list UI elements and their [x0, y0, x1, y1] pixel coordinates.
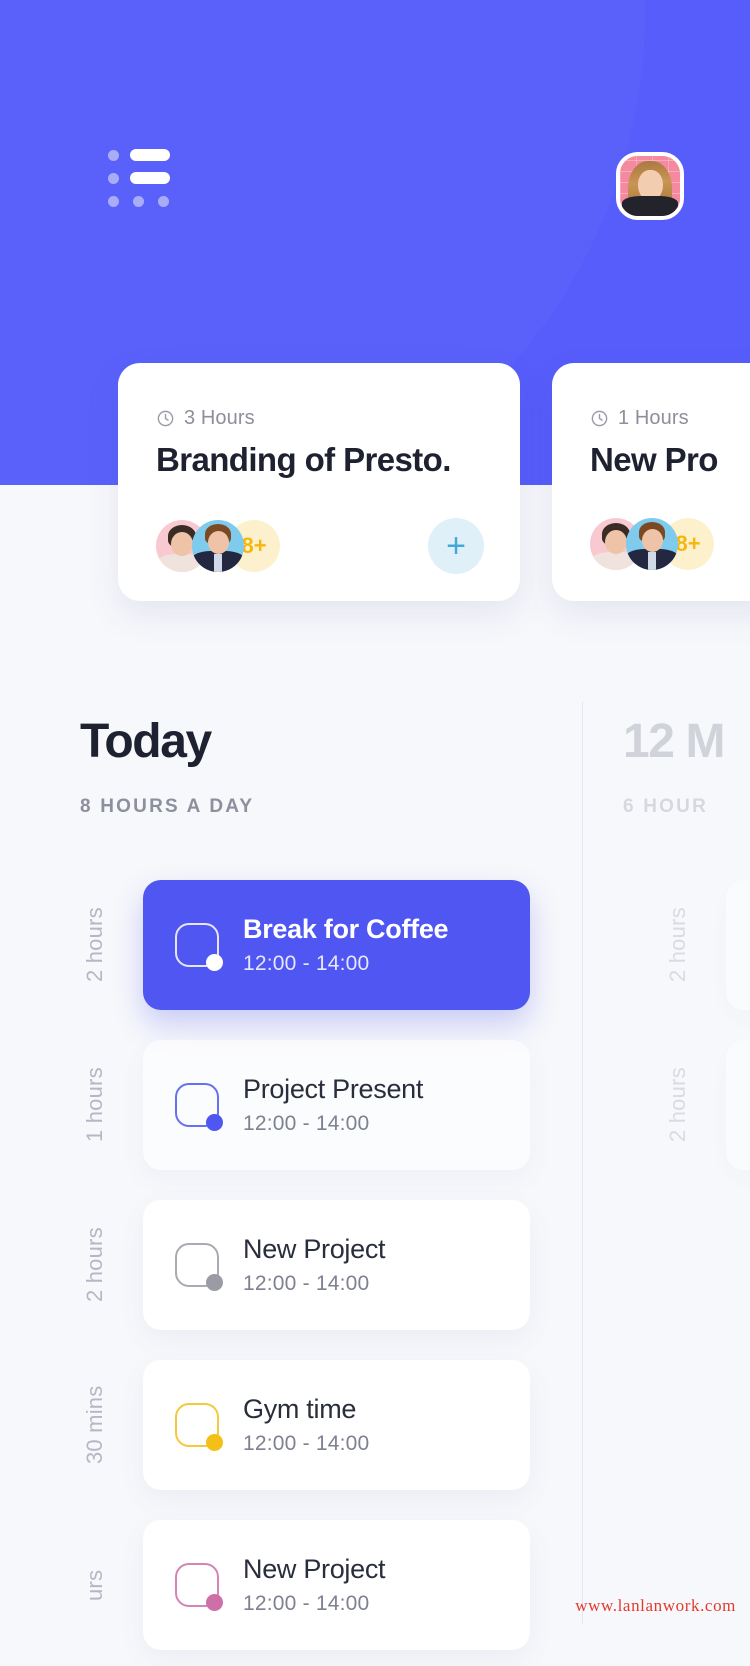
task-name: Project Present	[243, 1074, 423, 1105]
menu-dot	[108, 173, 119, 184]
member-avatar-stack[interactable]: 8+	[156, 520, 280, 572]
task-duration-label: 1 hours	[78, 1026, 112, 1184]
page-title: 12 M	[623, 714, 724, 769]
task-name: New Project	[243, 1234, 385, 1265]
task-checkbox[interactable]	[175, 923, 219, 967]
add-member-button[interactable]: +	[428, 518, 484, 574]
task-row: 2 hours New Project 12:00 - 14:00	[0, 1186, 582, 1344]
task-card[interactable]: Gym time 12:00 - 14:00	[143, 1360, 530, 1490]
page-subtitle: 8 HOURS A DAY	[80, 796, 254, 818]
task-duration-label: urs	[78, 1506, 112, 1664]
task-time: 12:00 - 14:00	[243, 952, 448, 976]
task-list: 2 hours 2 hours	[583, 866, 750, 1186]
member-avatar[interactable]	[626, 518, 678, 570]
member-avatar-stack[interactable]: 8+	[590, 518, 714, 570]
task-name: Break for Coffee	[243, 914, 448, 945]
project-duration: 1 Hours	[590, 407, 750, 430]
project-card[interactable]: 3 Hours Branding of Presto. 8+ +	[118, 363, 520, 601]
task-duration-label: 2 hours	[78, 866, 112, 1024]
task-card[interactable]: New Project 12:00 - 14:00	[143, 1520, 530, 1650]
task-card[interactable]	[726, 1040, 750, 1170]
menu-dot	[158, 196, 169, 207]
task-name: Gym time	[243, 1394, 369, 1425]
page-subtitle: 6 HOUR	[623, 796, 708, 818]
project-duration: 3 Hours	[156, 407, 484, 430]
schedule-panels: Today 8 HOURS A DAY 2 hours Break for Co…	[0, 606, 750, 1624]
project-card-footer: 8+ +	[156, 518, 484, 574]
task-row: 2 hours	[583, 866, 750, 1024]
project-duration-label: 1 Hours	[618, 407, 689, 430]
avatar-body	[622, 196, 678, 216]
menu-bar	[130, 149, 170, 161]
task-checkbox[interactable]	[175, 1083, 219, 1127]
clock-icon	[590, 409, 609, 428]
task-time: 12:00 - 14:00	[243, 1112, 423, 1136]
list-menu-icon[interactable]	[108, 148, 170, 204]
project-duration-label: 3 Hours	[184, 407, 255, 430]
user-avatar[interactable]	[616, 152, 684, 220]
project-title: Branding of Presto.	[156, 441, 484, 479]
task-time: 12:00 - 14:00	[243, 1272, 385, 1296]
project-cards-carousel[interactable]: 3 Hours Branding of Presto. 8+ + 1 Hours…	[0, 363, 750, 603]
watermark: www.lanlanwork.com	[575, 1596, 736, 1616]
menu-dot	[108, 196, 119, 207]
task-time: 12:00 - 14:00	[243, 1592, 385, 1616]
task-card[interactable]: New Project 12:00 - 14:00	[143, 1200, 530, 1330]
task-name: New Project	[243, 1554, 385, 1585]
task-checkbox[interactable]	[175, 1403, 219, 1447]
task-checkbox[interactable]	[175, 1243, 219, 1287]
member-avatar[interactable]	[192, 520, 244, 572]
page-title: Today	[80, 714, 211, 769]
task-list: 2 hours Break for Coffee 12:00 - 14:00 1…	[0, 866, 582, 1666]
task-card[interactable]: Break for Coffee 12:00 - 14:00	[143, 880, 530, 1010]
task-row: urs New Project 12:00 - 14:00	[0, 1506, 582, 1664]
menu-dot	[133, 196, 144, 207]
menu-bar	[130, 172, 170, 184]
clock-icon	[156, 409, 175, 428]
day-panel-today: Today 8 HOURS A DAY 2 hours Break for Co…	[0, 606, 582, 1624]
project-card-footer: 8+	[590, 518, 750, 570]
project-title: New Pro	[590, 441, 750, 479]
task-duration-label: 2 hours	[78, 1186, 112, 1344]
task-duration-label: 2 hours	[661, 866, 695, 1024]
task-card[interactable]	[726, 880, 750, 1010]
day-panel-next[interactable]: 12 M 6 HOUR 2 hours 2 hours	[583, 606, 750, 1624]
task-row: 2 hours Break for Coffee 12:00 - 14:00	[0, 866, 582, 1024]
task-duration-label: 30 mins	[78, 1346, 112, 1504]
task-row: 30 mins Gym time 12:00 - 14:00	[0, 1346, 582, 1504]
task-row: 1 hours Project Present 12:00 - 14:00	[0, 1026, 582, 1184]
task-card[interactable]: Project Present 12:00 - 14:00	[143, 1040, 530, 1170]
project-card[interactable]: 1 Hours New Pro 8+	[552, 363, 750, 601]
task-checkbox[interactable]	[175, 1563, 219, 1607]
menu-dot	[108, 150, 119, 161]
task-duration-label: 2 hours	[661, 1026, 695, 1184]
task-time: 12:00 - 14:00	[243, 1432, 369, 1456]
task-row: 2 hours	[583, 1026, 750, 1184]
